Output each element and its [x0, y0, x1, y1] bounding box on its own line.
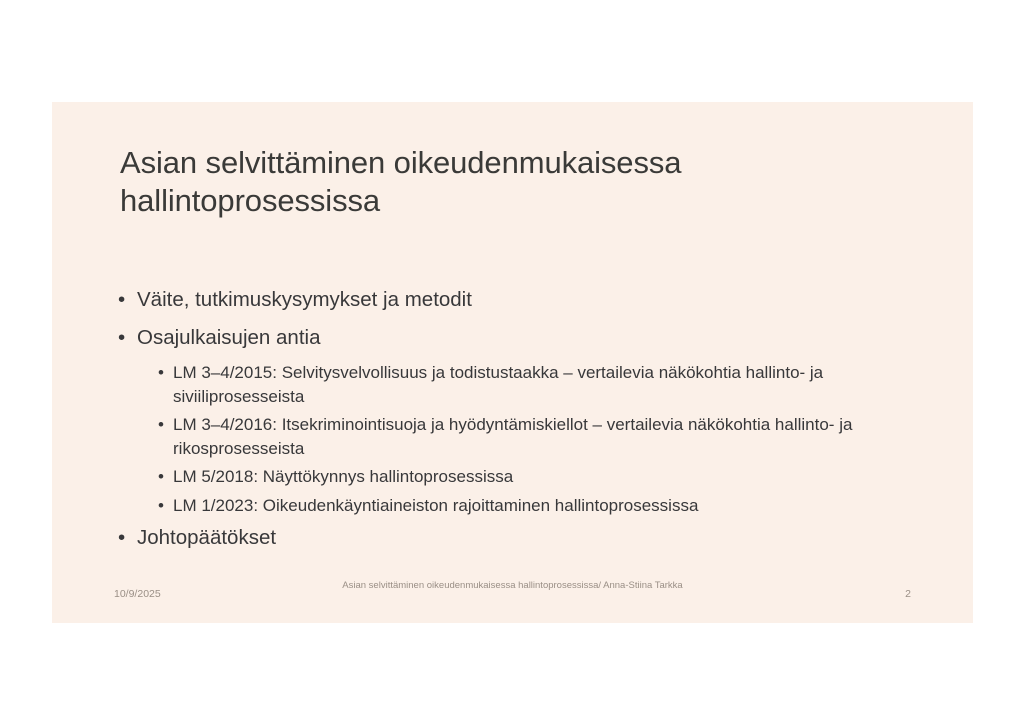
- list-item-label: LM 3–4/2016: Itsekriminointisuoja ja hyö…: [173, 413, 930, 460]
- slide-canvas: Asian selvittäminen oikeudenmukaisessa h…: [52, 102, 973, 623]
- bullet-marker-icon: •: [158, 413, 173, 437]
- list-item-label: LM 5/2018: Näyttökynnys hallintoprosessi…: [173, 465, 930, 489]
- last-bullet-wrapper: • Johtopäätökset: [110, 524, 930, 553]
- list-item: • LM 1/2023: Oikeudenkäyntiaineiston raj…: [110, 494, 930, 518]
- sub-bullet-group: • LM 3–4/2015: Selvitysvelvollisuus ja t…: [110, 361, 930, 517]
- page-title: Asian selvittäminen oikeudenmukaisessa h…: [120, 144, 920, 220]
- list-item-label: Osajulkaisujen antia: [137, 324, 930, 353]
- content-bullet-list: • Väite, tutkimuskysymykset ja metodit •…: [110, 286, 930, 562]
- bullet-marker-icon: •: [118, 324, 137, 353]
- list-item-label: Johtopäätökset: [137, 524, 930, 553]
- list-item: • LM 5/2018: Näyttökynnys hallintoproses…: [110, 465, 930, 489]
- list-item: • LM 3–4/2015: Selvitysvelvollisuus ja t…: [110, 361, 930, 408]
- list-item: • Väite, tutkimuskysymykset ja metodit: [110, 286, 930, 315]
- list-item-label: LM 3–4/2015: Selvitysvelvollisuus ja tod…: [173, 361, 930, 408]
- bullet-marker-icon: •: [158, 494, 173, 518]
- footer-date: 10/9/2025: [114, 588, 161, 600]
- bullet-marker-icon: •: [118, 524, 137, 553]
- bullet-marker-icon: •: [118, 286, 137, 315]
- list-item-label: LM 1/2023: Oikeudenkäyntiaineiston rajoi…: [173, 494, 930, 518]
- list-item: • LM 3–4/2016: Itsekriminointisuoja ja h…: [110, 413, 930, 460]
- bullet-marker-icon: •: [158, 465, 173, 489]
- slide-footer: 10/9/2025 Asian selvittäminen oikeudenmu…: [52, 579, 973, 613]
- slide-page: Asian selvittäminen oikeudenmukaisessa h…: [0, 0, 1024, 724]
- list-item-label: Väite, tutkimuskysymykset ja metodit: [137, 286, 930, 315]
- footer-page-number: 2: [905, 588, 911, 600]
- list-item: • Johtopäätökset: [110, 524, 930, 553]
- bullet-marker-icon: •: [158, 361, 173, 385]
- list-item: • Osajulkaisujen antia: [110, 324, 930, 353]
- footer-title-author: Asian selvittäminen oikeudenmukaisessa h…: [303, 579, 723, 593]
